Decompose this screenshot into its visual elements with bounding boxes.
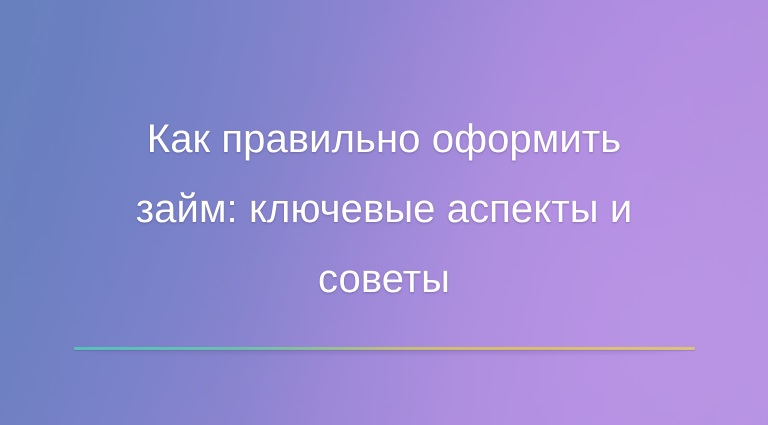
banner-content: Как правильно оформить займ: ключевые ас…: [0, 0, 768, 425]
article-title-banner: Как правильно оформить займ: ключевые ас…: [0, 0, 768, 425]
divider-drop-shadow: [86, 351, 682, 354]
title-divider: [74, 347, 695, 355]
page-title: Как правильно оформить займ: ключевые ас…: [0, 104, 768, 314]
divider-line: [74, 347, 695, 350]
